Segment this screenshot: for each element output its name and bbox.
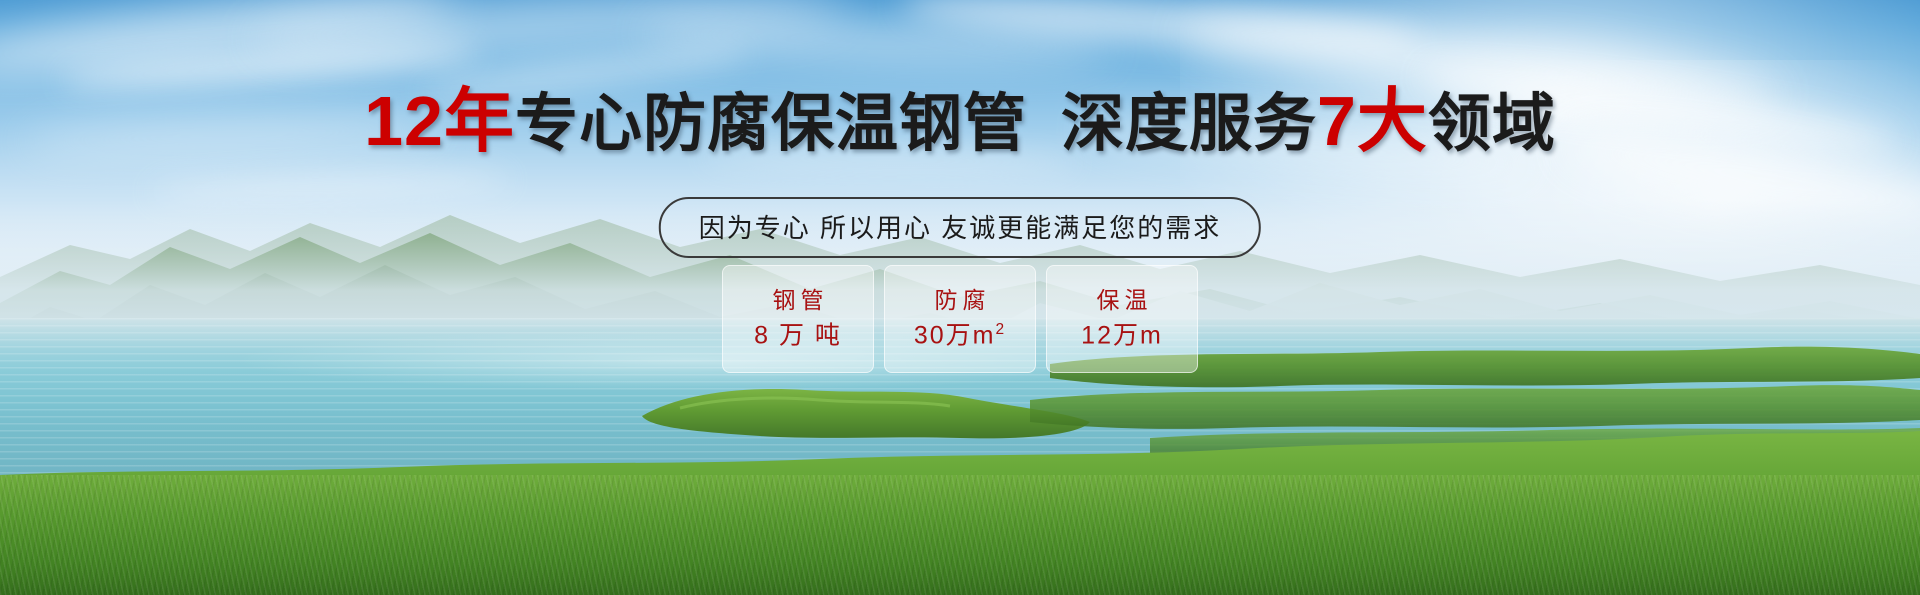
stat-card-label: 防腐 xyxy=(930,289,991,312)
promo-banner: 12年专心防腐保温钢管深度服务7大领域 因为专心 所以用心 友诚更能满足您的需求… xyxy=(0,0,1920,595)
grass-foreground xyxy=(0,475,1920,595)
stat-card-insulation[interactable]: 保温 12万m xyxy=(1046,265,1198,373)
stat-card-anticorrosion[interactable]: 防腐 30万m2 xyxy=(884,265,1036,373)
stat-card-label: 保温 xyxy=(1092,289,1153,312)
stat-card-value: 12万m xyxy=(1081,322,1163,348)
stat-card-group: 钢管 8 万 吨 防腐 30万m2 保温 12万m xyxy=(722,265,1198,373)
stat-card-value: 8 万 吨 xyxy=(754,322,842,348)
stat-value-text: 12万m xyxy=(1081,322,1163,350)
subtitle-pill: 因为专心 所以用心 友诚更能满足您的需求 xyxy=(659,197,1261,258)
stat-card-value: 30万m2 xyxy=(914,322,1006,348)
stat-card-steel-pipe[interactable]: 钢管 8 万 吨 xyxy=(722,265,874,373)
stat-value-text: 8 万 吨 xyxy=(754,322,842,350)
stat-value-superscript: 2 xyxy=(996,321,1007,338)
stat-value-text: 30万m xyxy=(914,322,996,350)
stat-card-label: 钢管 xyxy=(768,289,829,312)
